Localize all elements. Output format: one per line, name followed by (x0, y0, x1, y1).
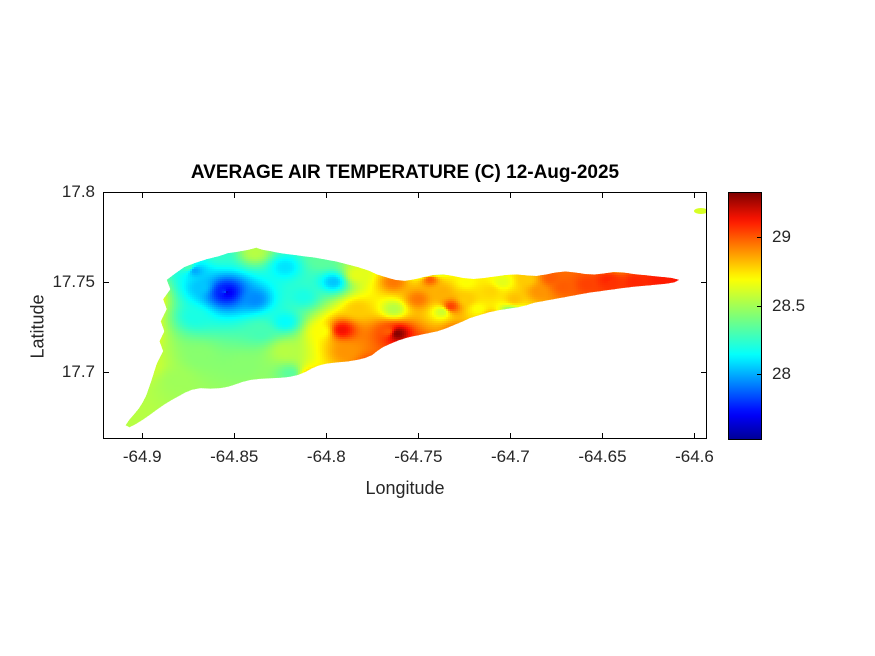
x-tick-label: -64.7 (491, 447, 530, 467)
x-tick-label: -64.9 (123, 447, 162, 467)
x-tick-mark (326, 433, 327, 439)
y-axis-label: Latitude (28, 267, 49, 387)
y-tick-label: 17.7 (62, 362, 95, 382)
x-tick-mark (694, 192, 695, 198)
x-tick-mark (510, 433, 511, 439)
x-tick-mark (418, 192, 419, 198)
x-tick-mark (418, 433, 419, 439)
x-tick-mark (234, 192, 235, 198)
island-temperature-field (104, 193, 707, 439)
y-tick-mark (103, 372, 109, 373)
y-tick-mark (701, 372, 707, 373)
colorbar-tick-label: 29 (772, 227, 791, 247)
offshore-cay (694, 208, 707, 214)
y-tick-mark (701, 282, 707, 283)
figure-canvas: AVERAGE AIR TEMPERATURE (C) 12-Aug-2025 … (0, 0, 875, 656)
colorbar-tick (757, 374, 762, 375)
x-tick-mark (142, 192, 143, 198)
x-tick-label: -64.75 (394, 447, 442, 467)
y-tick-mark (701, 192, 707, 193)
y-tick-label: 17.75 (52, 272, 95, 292)
chart-title: AVERAGE AIR TEMPERATURE (C) 12-Aug-2025 (103, 162, 707, 184)
map-axes (103, 192, 707, 439)
colorbar (728, 192, 762, 440)
colorbar-tick (757, 306, 762, 307)
temperature-heatmap (104, 193, 707, 439)
x-tick-mark (510, 192, 511, 198)
x-tick-label: -64.8 (307, 447, 346, 467)
x-tick-label: -64.6 (675, 447, 714, 467)
x-tick-mark (142, 433, 143, 439)
x-axis-label: Longitude (103, 478, 707, 499)
colorbar-tick (757, 237, 762, 238)
colorbar-tick-label: 28.5 (772, 296, 805, 316)
x-tick-mark (234, 433, 235, 439)
x-tick-mark (326, 192, 327, 198)
x-tick-label: -64.85 (210, 447, 258, 467)
x-tick-mark (694, 433, 695, 439)
x-tick-mark (602, 192, 603, 198)
y-tick-label: 17.8 (62, 182, 95, 202)
colorbar-gradient (729, 193, 762, 440)
y-tick-mark (103, 192, 109, 193)
y-tick-mark (103, 282, 109, 283)
x-tick-label: -64.65 (578, 447, 626, 467)
colorbar-tick-label: 28 (772, 364, 791, 384)
x-tick-mark (602, 433, 603, 439)
